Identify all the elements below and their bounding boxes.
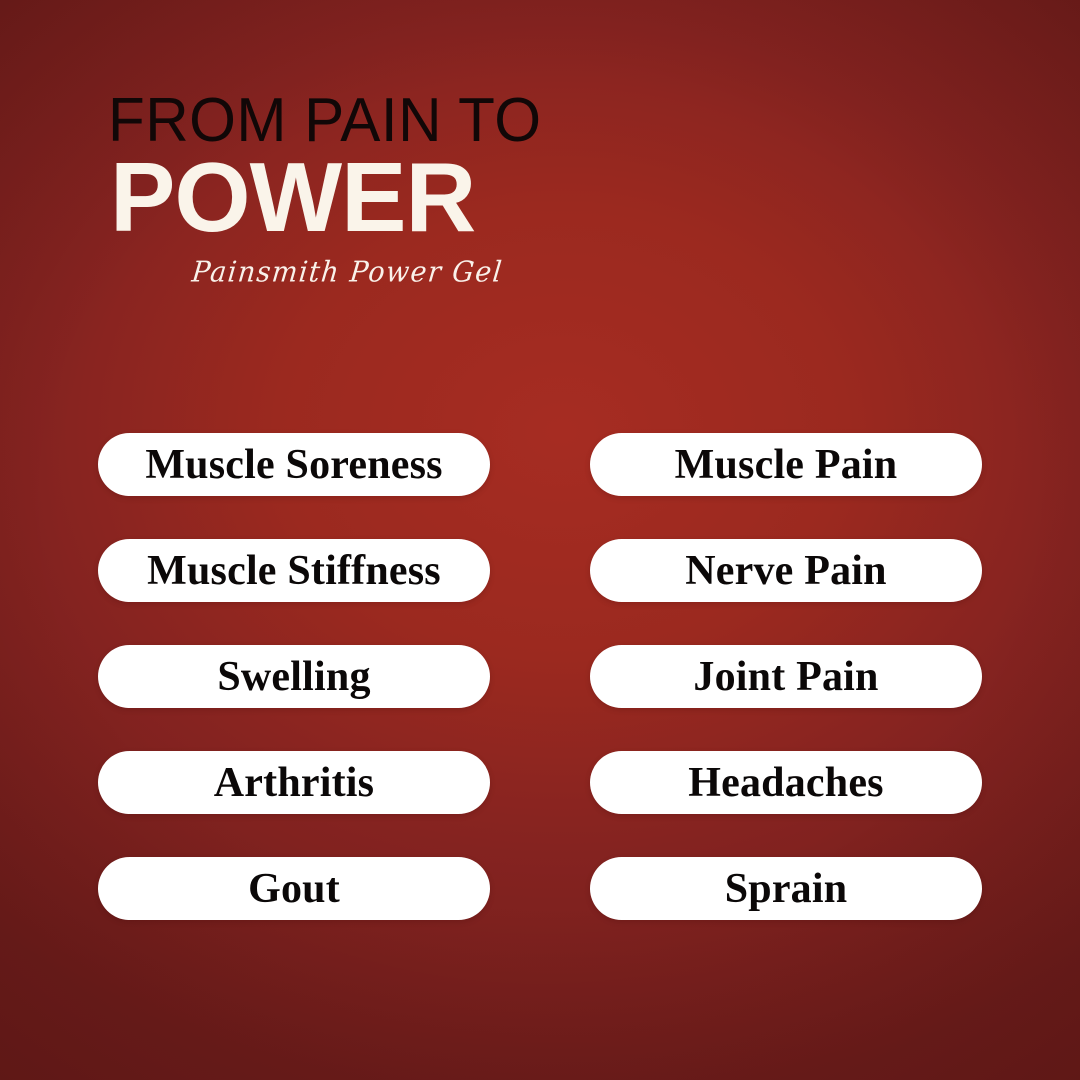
headline-line-two: POWER [110,151,748,243]
condition-label: Arthritis [214,762,374,804]
condition-label: Headaches [688,762,883,804]
condition-label: Muscle Soreness [145,444,442,486]
headline-line-one: FROM PAIN TO [108,92,729,149]
condition-label: Joint Pain [693,656,878,698]
condition-pill[interactable]: Muscle Pain [590,433,982,496]
condition-pill[interactable]: Muscle Stiffness [98,539,490,602]
condition-pill[interactable]: Muscle Soreness [98,433,490,496]
condition-pill[interactable]: Swelling [98,645,490,708]
condition-label: Muscle Pain [675,444,898,486]
condition-pill[interactable]: Headaches [590,751,982,814]
headline-block: FROM PAIN TO POWER Painsmith Power Gel [108,92,748,288]
condition-pill[interactable]: Arthritis [98,751,490,814]
condition-label: Gout [248,868,340,910]
condition-pill[interactable]: Nerve Pain [590,539,982,602]
condition-label: Nerve Pain [685,550,886,592]
poster-canvas: FROM PAIN TO POWER Painsmith Power Gel M… [0,0,1080,1080]
condition-label: Sprain [725,868,848,910]
product-script-name: Painsmith Power Gel [190,256,749,289]
condition-label: Muscle Stiffness [147,550,441,592]
condition-pill[interactable]: Joint Pain [590,645,982,708]
condition-pill[interactable]: Gout [98,857,490,920]
conditions-grid: Muscle Soreness Muscle Pain Muscle Stiff… [98,433,982,920]
condition-pill[interactable]: Sprain [590,857,982,920]
condition-label: Swelling [217,656,370,698]
